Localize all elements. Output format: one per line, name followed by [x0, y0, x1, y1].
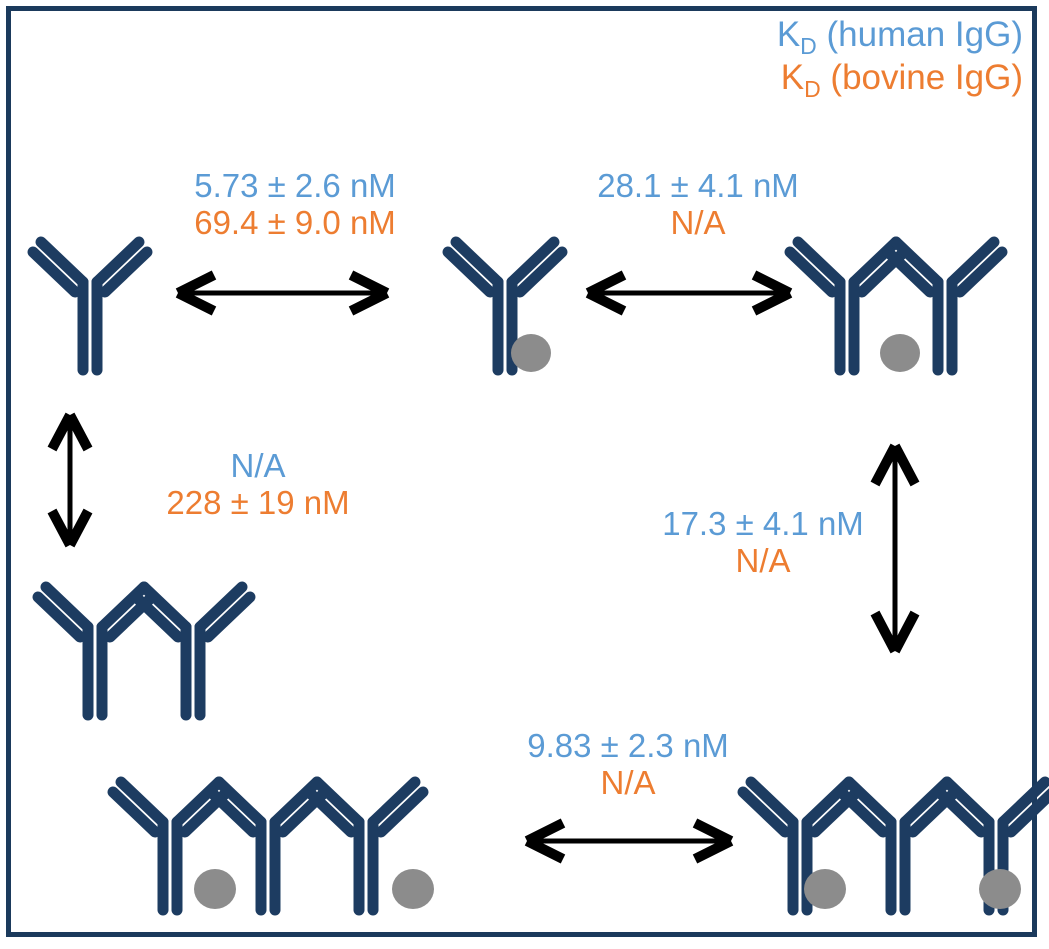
legend-human-text: (human IgG) [817, 15, 1023, 54]
antibody-dimer [38, 587, 250, 715]
arrow-monomer-to-dimer [52, 415, 88, 545]
kd-label-right-vertical: 17.3 ± 4.1 nM N/A [618, 506, 908, 580]
antigen-blob [804, 869, 846, 909]
kd-bovine-value: 228 ± 19 nM [128, 485, 388, 522]
kd-label-bottom: 9.83 ± 2.3 nM N/A [483, 728, 773, 802]
arrow-monomer-antigen-to-dimer-antigen [588, 275, 790, 311]
arrow-monomer-to-monomer-antigen [178, 275, 387, 311]
antigen-blob [194, 869, 236, 909]
antigen-blob [511, 334, 551, 372]
kd-label-top-left: 5.73 ± 2.6 nM 69.4 ± 9.0 nM [150, 168, 440, 242]
kd-human-value: 28.1 ± 4.1 nM [553, 168, 843, 205]
legend-human-subscript: D [800, 33, 817, 59]
antibody-monomer [33, 242, 147, 370]
legend-bovine-text: (bovine IgG) [821, 58, 1023, 97]
kd-label-left-vertical: N/A 228 ± 19 nM [128, 448, 388, 522]
antibody-oligomer-antigen [113, 782, 423, 910]
kd-bovine-value: N/A [618, 543, 908, 580]
legend-entry-bovine: KD (bovine IgG) [777, 59, 1023, 102]
legend-bovine-symbol: K [781, 58, 804, 97]
kd-label-top-right: 28.1 ± 4.1 nM N/A [553, 168, 843, 242]
kd-human-value: 17.3 ± 4.1 nM [618, 506, 908, 543]
figure-root: KD (human IgG) KD (bovine IgG) 5.73 ± 2.… [0, 0, 1049, 949]
legend-entry-human: KD (human IgG) [777, 16, 1023, 59]
legend: KD (human IgG) KD (bovine IgG) [777, 16, 1023, 103]
kd-bovine-value: N/A [483, 765, 773, 802]
kd-human-value: N/A [128, 448, 388, 485]
arrow-oligomer-one-to-two-antigen [527, 823, 731, 859]
kd-human-value: 9.83 ± 2.3 nM [483, 728, 773, 765]
antigen-blob [979, 869, 1021, 909]
legend-human-symbol: K [777, 15, 800, 54]
antigen-blob [880, 334, 920, 372]
kd-bovine-value: 69.4 ± 9.0 nM [150, 205, 440, 242]
kd-bovine-value: N/A [553, 205, 843, 242]
legend-bovine-subscript: D [804, 76, 821, 102]
kd-human-value: 5.73 ± 2.6 nM [150, 168, 440, 205]
antigen-blob [392, 869, 434, 909]
